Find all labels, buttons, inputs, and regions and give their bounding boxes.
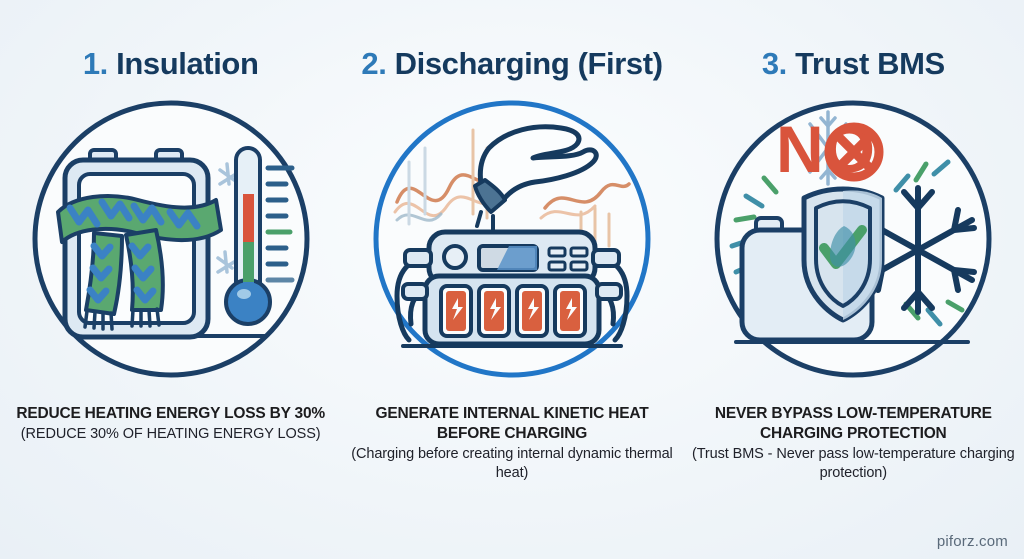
panel-3-title: Trust BMS	[795, 46, 945, 81]
panel-2-number: 2.	[361, 46, 386, 81]
panel-3-caption-main: NEVER BYPASS LOW-TEMPERATURE CHARGING PR…	[688, 404, 1018, 444]
panel-3-caption-sub: (Trust BMS - Never pass low-temperature …	[688, 445, 1018, 483]
panel-2-heading: 2. Discharging (First)	[361, 48, 662, 79]
watermark: piforz.com	[937, 533, 1008, 550]
panel-1-heading: 1. Insulation	[83, 48, 259, 79]
panel-1-illustration	[28, 96, 314, 382]
panel-3-illustration: NO	[710, 96, 996, 382]
panel-3-heading: 3. Trust BMS	[762, 48, 945, 79]
panel-1-title: Insulation	[116, 46, 258, 81]
panel-insulation: 1. Insulation	[0, 0, 341, 559]
panel-1-caption: REDUCE HEATING ENERGY LOSS BY 30% (REDUC…	[6, 404, 336, 444]
panel-1-caption-main: REDUCE HEATING ENERGY LOSS BY 30%	[6, 404, 336, 424]
panel-discharging: 2. Discharging (First)	[341, 0, 682, 559]
panel-2-caption-main: GENERATE INTERNAL KINETIC HEAT BEFORE CH…	[347, 404, 677, 444]
panel-trust-bms: 3. Trust BMS NO	[683, 0, 1024, 559]
panel-2-title: Discharging (First)	[395, 46, 663, 81]
panel-2-caption-sub: (Charging before creating internal dynam…	[347, 445, 677, 483]
panel-3-caption: NEVER BYPASS LOW-TEMPERATURE CHARGING PR…	[688, 404, 1018, 482]
panel-3-number: 3.	[762, 46, 787, 81]
panel-1-caption-sub: (REDUCE 30% OF HEATING ENERGY LOSS)	[6, 425, 336, 444]
infographic-panels: 1. Insulation	[0, 0, 1024, 559]
panel-1-number: 1.	[83, 46, 108, 81]
panel-2-illustration	[369, 96, 655, 382]
panel-2-caption: GENERATE INTERNAL KINETIC HEAT BEFORE CH…	[347, 404, 677, 482]
